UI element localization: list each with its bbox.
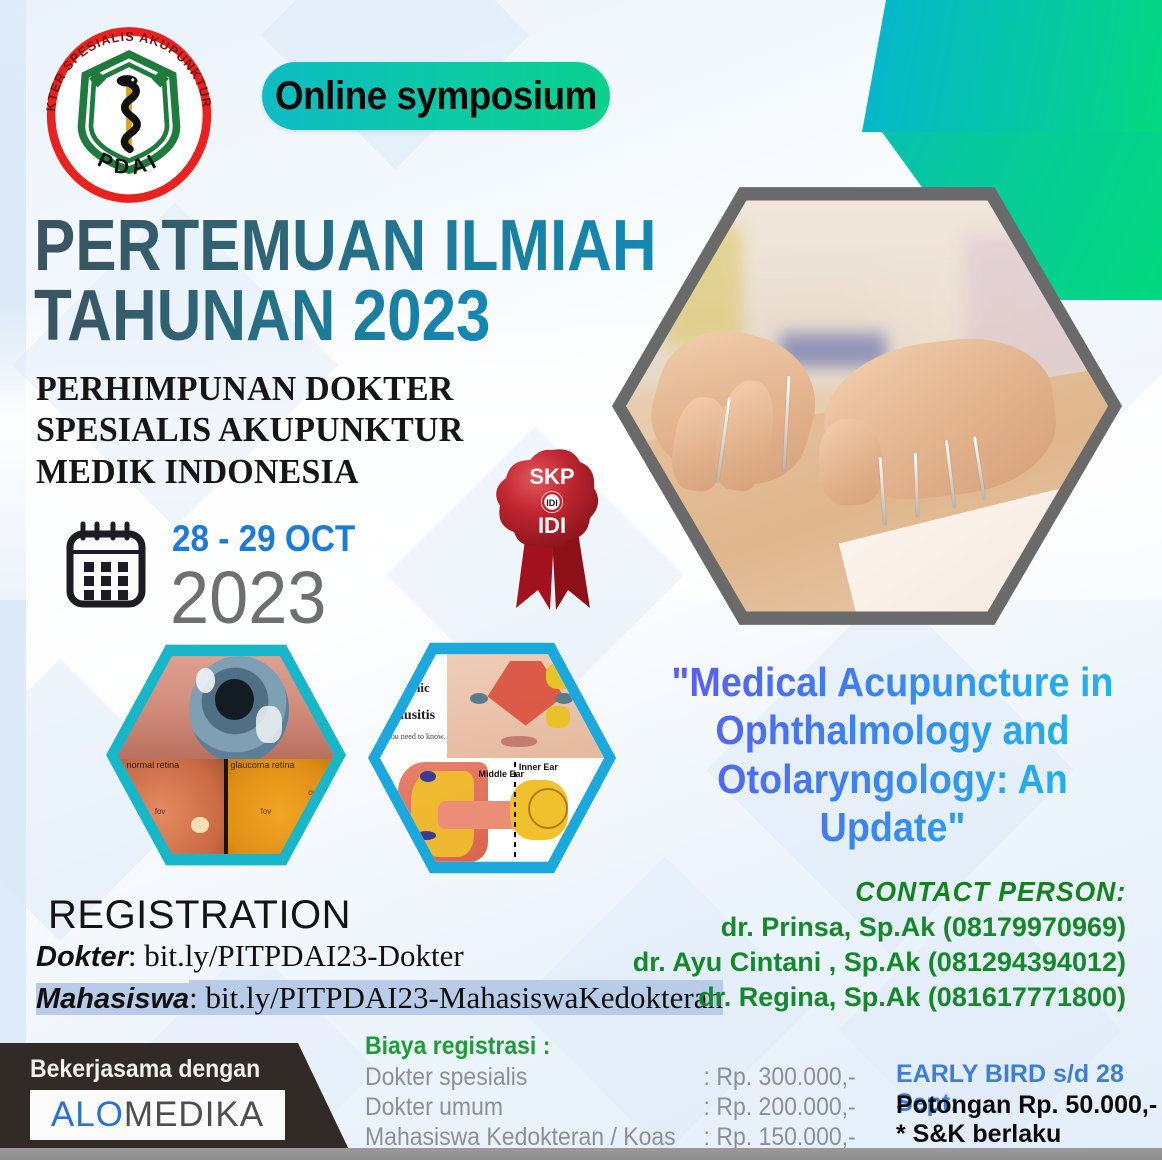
page-title-line1: PERTEMUAN ILMIAH <box>34 212 657 282</box>
registration-sep: : <box>189 980 205 1015</box>
organization-subtitle: PERHIMPUNAN DOKTER SPESIALIS AKUPUNKTUR … <box>36 368 463 492</box>
bottom-bar <box>0 1148 1162 1160</box>
alomedika-logo: ALOMEDIKA <box>30 1090 285 1140</box>
retina-normal <box>118 759 226 858</box>
alomedika-logo-part1: ALO <box>51 1095 124 1135</box>
fee-amount: : Rp. 300.000,- <box>704 1063 856 1092</box>
subtitle-line-3: MEDIK INDONESIA <box>36 451 463 492</box>
middle-ear-label: Middle Ear <box>479 769 525 779</box>
early-bird-terms: * S&K berlaku <box>896 1120 1061 1149</box>
cochlea-spiral <box>528 788 568 829</box>
eye-highlight <box>256 706 282 743</box>
sinusitis-label-3: you need to know. <box>387 732 446 741</box>
registration-row-mahasiswa: Mahasiswa: bit.ly/PITPDAI23-MahasiswaKed… <box>36 980 723 1016</box>
theme-line-2: Ophthalmology and <box>660 706 1125 754</box>
contact-person-1: dr. Prinsa, Sp.Ak (08179970969) <box>721 912 1126 943</box>
contact-person-3: dr. Regina, Sp.Ak (081617771800) <box>698 982 1126 1013</box>
retina-glaucoma <box>226 759 334 858</box>
acupuncture-photo-hexagon <box>612 178 1122 634</box>
photo-background-blur <box>665 226 742 346</box>
subtitle-line-1: PERHIMPUNAN DOKTER <box>36 368 463 409</box>
acupuncture-photo <box>626 192 1108 620</box>
fee-label: Dokter umum <box>365 1093 503 1121</box>
page-title-line2: TAHUNAN 2023 <box>34 282 490 352</box>
fees-heading: Biaya registrasi : <box>365 1032 550 1061</box>
fee-amount: : Rp. 200.000,- <box>704 1093 856 1122</box>
subtitle-line-2: SPESIALIS AKUPUNKTUR <box>36 409 463 450</box>
svg-text:SKP: SKP <box>529 464 574 489</box>
otolaryngology-image-hexagon: Chronic Sinusitis you need to know. Midd… <box>368 638 616 878</box>
face-eye <box>470 693 488 704</box>
corner-accent-shape-top <box>862 0 1162 132</box>
fee-label: Dokter spesialis <box>365 1063 527 1091</box>
poster-root: PERHIMPUNAN DOKTER SPESIALIS AKUPUNKTUR … <box>0 0 1162 1160</box>
calendar-icon <box>62 518 150 610</box>
sinus-highlight <box>546 706 571 728</box>
contact-person-2: dr. Ayu Cintani , Sp.Ak (081294394012) <box>633 947 1126 978</box>
symposium-theme: "Medical Acupuncture in Ophthalmology an… <box>660 658 1125 852</box>
registration-label-mahasiswa: Mahasiswa <box>36 983 189 1015</box>
inner-ear-label: Inner Ear <box>519 762 558 772</box>
retina-label-glaucoma: glaucoma retina <box>230 760 294 770</box>
event-year: 2023 <box>170 555 326 640</box>
skp-idi-seal: SKP IDI IDI <box>492 440 612 620</box>
retina-label-fovea: fov <box>261 807 272 816</box>
face-lips <box>501 736 537 747</box>
fee-label: Mahasiswa Kedokteran / Koas <box>365 1123 676 1151</box>
registration-url-dokter[interactable]: bit.ly/PITPDAI23-Dokter <box>144 938 463 973</box>
registration-sep: : <box>128 938 144 973</box>
svg-text:IDI: IDI <box>538 513 566 538</box>
event-date-range: 28 - 29 OCT <box>172 518 355 560</box>
contact-person-heading: CONTACT PERSON: <box>855 876 1126 908</box>
ear-vessel <box>420 771 436 782</box>
registration-url-mahasiswa[interactable]: bit.ly/PITPDAI23-MahasiswaKedokteran <box>206 980 723 1015</box>
svg-text:IDI: IDI <box>546 498 558 508</box>
theme-line-1: "Medical Acupuncture in <box>660 658 1125 706</box>
alomedika-logo-part2: MEDIKA <box>124 1095 264 1135</box>
registration-heading: REGISTRATION <box>48 893 351 938</box>
optic-disc <box>191 817 208 833</box>
registration-row-dokter: Dokter: bit.ly/PITPDAI23-Dokter <box>36 938 464 974</box>
partner-label: Bekerjasama dengan <box>30 1055 260 1084</box>
eye-pupil <box>215 679 254 720</box>
online-symposium-label: Online symposium <box>275 74 597 119</box>
theme-line-3: Otolaryngology: An Update" <box>660 755 1125 852</box>
retina-label-fovea: fov <box>155 807 166 816</box>
online-symposium-badge: Online symposium <box>262 62 610 130</box>
early-bird-discount: Potongan Rp. 50.000,- <box>896 1091 1157 1120</box>
pdai-logo: PERHIMPUNAN DOKTER SPESIALIS AKUPUNKTUR … <box>34 20 224 210</box>
retina-label-normal: normal retina <box>127 760 180 770</box>
registration-label-dokter: Dokter <box>36 941 128 973</box>
retina-divider <box>224 759 227 858</box>
fee-row: Dokter umum: Rp. 200.000,- <box>365 1093 503 1122</box>
fee-row: Dokter spesialis: Rp. 300.000,- <box>365 1063 527 1092</box>
ophthalmology-image-hexagon: normal retina glaucoma retina fov fov cu… <box>106 640 346 870</box>
